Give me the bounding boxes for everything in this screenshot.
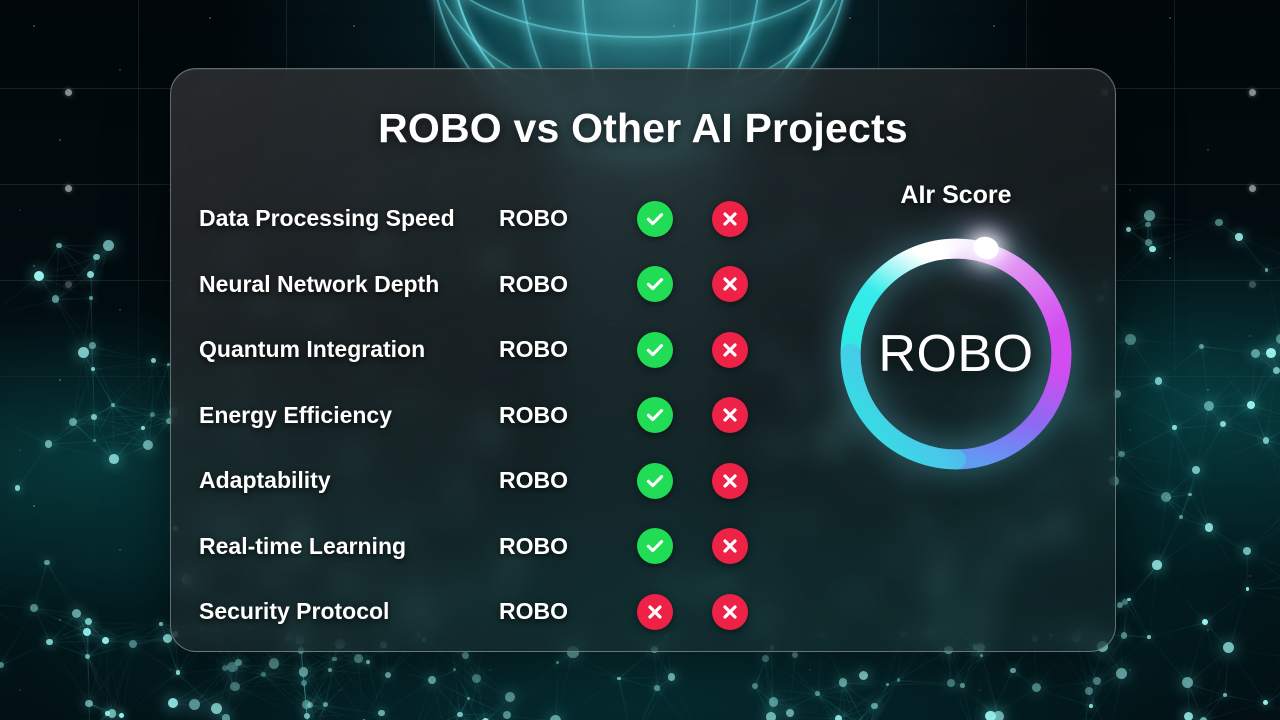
other-status-cell bbox=[692, 332, 767, 368]
feature-label: Quantum Integration bbox=[199, 336, 499, 363]
robo-status-cell bbox=[617, 594, 692, 630]
other-status-cell bbox=[692, 266, 767, 302]
robo-status-cell bbox=[617, 266, 692, 302]
grid-node bbox=[1249, 89, 1256, 96]
score-value: ROBO bbox=[833, 231, 1079, 477]
cross-icon bbox=[637, 594, 673, 630]
comparison-card: ROBO vs Other AI Projects Data Processin… bbox=[170, 68, 1116, 652]
cross-icon bbox=[712, 332, 748, 368]
page-title: ROBO vs Other AI Projects bbox=[171, 105, 1115, 152]
cross-icon bbox=[712, 463, 748, 499]
check-icon bbox=[637, 332, 673, 368]
check-icon bbox=[637, 463, 673, 499]
score-label: AIr Score bbox=[811, 181, 1101, 210]
table-row: AdaptabilityROBO bbox=[199, 448, 779, 514]
cross-icon bbox=[712, 266, 748, 302]
table-row: Data Processing SpeedROBO bbox=[199, 186, 779, 252]
table-row: Energy EfficiencyROBO bbox=[199, 383, 779, 449]
slide-canvas: ROBO vs Other AI Projects Data Processin… bbox=[0, 0, 1280, 720]
feature-label: Neural Network Depth bbox=[199, 271, 499, 298]
grid-node bbox=[1249, 281, 1256, 288]
cross-icon bbox=[712, 594, 748, 630]
brand-label: ROBO bbox=[499, 336, 617, 363]
grid-node bbox=[65, 89, 72, 96]
other-status-cell bbox=[692, 463, 767, 499]
cross-icon bbox=[712, 528, 748, 564]
robo-status-cell bbox=[617, 528, 692, 564]
brand-label: ROBO bbox=[499, 533, 617, 560]
grid-node bbox=[65, 281, 72, 288]
feature-label: Real-time Learning bbox=[199, 533, 499, 560]
check-icon bbox=[637, 266, 673, 302]
score-panel: AIr Score bbox=[811, 181, 1101, 541]
other-status-cell bbox=[692, 201, 767, 237]
brand-label: ROBO bbox=[499, 271, 617, 298]
cross-icon bbox=[712, 201, 748, 237]
feature-label: Adaptability bbox=[199, 467, 499, 494]
brand-label: ROBO bbox=[499, 402, 617, 429]
grid-node bbox=[1249, 185, 1256, 192]
robo-status-cell bbox=[617, 201, 692, 237]
feature-label: Security Protocol bbox=[199, 598, 499, 625]
table-row: Quantum IntegrationROBO bbox=[199, 317, 779, 383]
comparison-table: Data Processing SpeedROBONeural Network … bbox=[199, 186, 779, 645]
brand-label: ROBO bbox=[499, 598, 617, 625]
check-icon bbox=[637, 397, 673, 433]
table-row: Security ProtocolROBO bbox=[199, 579, 779, 645]
brand-label: ROBO bbox=[499, 467, 617, 494]
check-icon bbox=[637, 528, 673, 564]
cross-icon bbox=[712, 397, 748, 433]
robo-status-cell bbox=[617, 463, 692, 499]
other-status-cell bbox=[692, 397, 767, 433]
robo-status-cell bbox=[617, 332, 692, 368]
grid-node bbox=[65, 185, 72, 192]
other-status-cell bbox=[692, 594, 767, 630]
check-icon bbox=[637, 201, 673, 237]
feature-label: Energy Efficiency bbox=[199, 402, 499, 429]
feature-label: Data Processing Speed bbox=[199, 205, 499, 232]
table-row: Real-time LearningROBO bbox=[199, 514, 779, 580]
brand-label: ROBO bbox=[499, 205, 617, 232]
table-row: Neural Network DepthROBO bbox=[199, 252, 779, 318]
other-status-cell bbox=[692, 528, 767, 564]
robo-status-cell bbox=[617, 397, 692, 433]
score-ring-gauge: ROBO bbox=[833, 231, 1079, 477]
